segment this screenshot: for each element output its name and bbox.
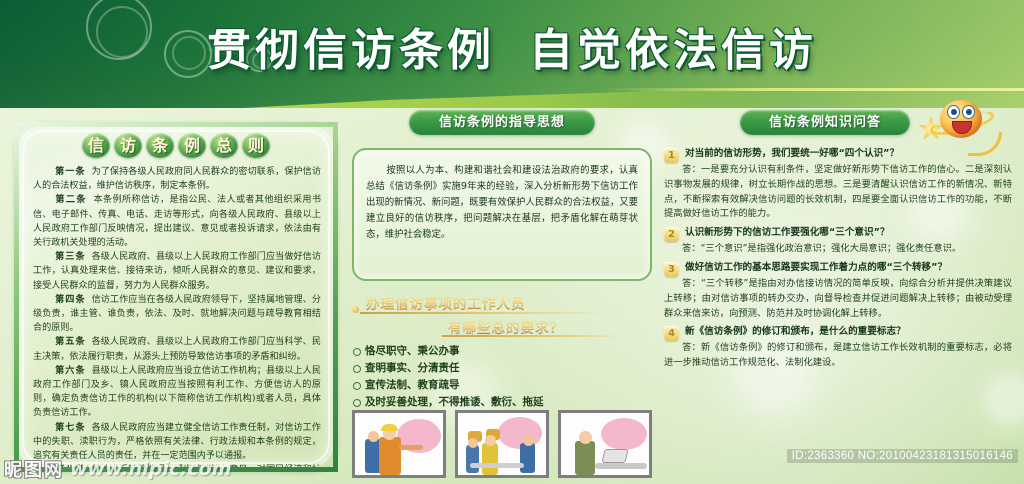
title-bubble-5: 总 [210, 133, 238, 158]
qa-question: 做好信访工作的基本思路要实现工作着力点的哪“三个转移”？ [685, 261, 1012, 275]
qa-answer: 答：一是要充分认识有利条件，坚定做好新形势下信访工作的信心。二是深刻认识事物发展… [664, 164, 1012, 219]
image-id-watermark: ID:2363360 NO:20100423181315016146 [787, 449, 1018, 463]
figure-hat [381, 424, 398, 431]
figure-desk [595, 463, 647, 469]
title-bubble-2: 访 [114, 133, 142, 158]
article-number: 第二条 [55, 195, 87, 205]
qa-item: 3 做好信访工作的基本思路要实现工作着力点的哪“三个转移”？ [664, 261, 1012, 275]
left-panel-body: 第一条 为了保持各级人民政府同人民群众的密切联系，保护信访人的合法权益，维护信访… [33, 165, 321, 461]
left-panel-title: 信访条例总则 [19, 133, 333, 158]
requirements-list: 恪尽职守、秉公办事 查明事实、分清责任 宣传法制、教育疏导 及时妥善处理，不得推… [352, 343, 652, 411]
speech-bubble [601, 418, 647, 450]
qa-number-badge: 3 [664, 262, 679, 277]
qa-item: 1 对当前的信访形势，我们要统一好哪“四个认识”？ [664, 147, 1012, 161]
figure-laptop [602, 449, 629, 463]
site-url-text: www.nipic.com [70, 458, 231, 480]
requirements-heading-line2: 有哪些总的要求？ [352, 317, 652, 337]
article-number: 第一条 [55, 167, 86, 177]
qa-item: 4 新《信访条例》的修订和颁布，是什么的重要标志？ [664, 325, 1012, 339]
mascot-pupil-left [951, 109, 957, 115]
list-item: 恪尽职守、秉公办事 [352, 343, 652, 360]
article-item: 第五条 各级人民政府、县级以上人民政府工作部门应当科学、民主决策，依法履行职责，… [33, 335, 321, 363]
title-bubble-6: 则 [242, 133, 270, 158]
poster-title: 贯彻信访条例自觉依法信访 [0, 14, 1024, 78]
qa-answer-wrap: 答：“三个转移”是指由对办信接访情况的简单反映，向综合分析并提供决策建议上转移；… [664, 277, 1012, 321]
qa-answer: 答：“三个转移”是指由对办信接访情况的简单反映，向综合分析并提供决策建议上转移；… [664, 278, 1012, 319]
article-item: 第六条 县级以上人民政府应当设立信访工作机构；县级以上人民政府工作部门及乡、镇人… [33, 364, 321, 421]
qa-number-badge: 1 [664, 148, 679, 163]
qa-answer-wrap: 答：一是要充分认识有利条件，坚定做好新形势下信访工作的信心。二是深刻认识事物发展… [664, 163, 1012, 222]
article-item: 第二条 本条例所称信访，是指公民、法人或者其他组织采用书信、电子邮件、传真、电话… [33, 193, 321, 250]
qa-number-badge: 2 [664, 227, 679, 242]
site-logo-text: 昵图网 [4, 456, 64, 482]
list-item: 宣传法制、教育疏导 [352, 377, 652, 394]
qa-question: 新《信访条例》的修订和颁布，是什么的重要标志？ [685, 325, 1012, 339]
figure-arm [399, 445, 423, 450]
qa-answer-wrap: 答：“三个意识”是指强化政治意识；强化大局意识；强化责任意识。 [664, 242, 1012, 257]
figure-head [579, 431, 592, 444]
article-item: 第一条 为了保持各级人民政府同人民群众的密切联系，保护信访人的合法权益，维护信访… [33, 165, 321, 193]
illustration-row [352, 410, 652, 478]
qa-list: 1 对当前的信访形势，我们要统一好哪“四个认识”？ 答：一是要充分认识有利条件，… [664, 147, 1012, 371]
guiding-thought-banner: 信访条例的指导思想 [409, 110, 595, 135]
title-bubble-4: 例 [178, 133, 206, 158]
article-number: 第七条 [55, 423, 86, 433]
article-number: 第三条 [55, 252, 86, 262]
middle-panel: 信访条例的指导思想 按照以人为本、构建和谐社会和建设法治政府的要求，认真总结《信… [352, 110, 652, 480]
title-bubble-3: 条 [146, 133, 174, 158]
requirements-underline-2 [442, 335, 622, 337]
qa-banner: 信访条例知识问答 [740, 110, 910, 135]
article-item: 第四条 信访工作应当在各级人民政府领导下，坚持属地管理、分级负责，谁主管、谁负责… [33, 293, 321, 336]
qa-question: 对当前的信访形势，我们要统一好哪“四个认识”？ [685, 147, 1012, 161]
requirements-heading-line1: 办理信访事项的工作人员 [352, 293, 652, 313]
figure-head [523, 435, 534, 446]
illustration-photo-3 [558, 410, 652, 478]
title-left: 贯彻信访条例 [207, 25, 495, 76]
guiding-thought-box: 按照以人为本、构建和谐社会和建设法治政府的要求，认真总结《信访条例》实施9年来的… [352, 148, 652, 281]
qa-number-badge: 4 [664, 326, 679, 341]
article-item: 第三条 各级人民政府、县级以上人民政府工作部门应当做好信访工作，认真处理来信、接… [33, 250, 321, 293]
qa-question: 认识新形势下的信访工作要强化哪“三个意识”？ [685, 226, 1012, 240]
figure-person [482, 443, 498, 475]
qa-answer: 答：新《信访条例》的修订和颁布，是建立信访工作长效机制的重要标志，必将进一步推动… [664, 342, 1012, 368]
requirements-heading: 办理信访事项的工作人员 有哪些总的要求？ [352, 293, 652, 339]
qa-item: 2 认识新形势下的信访工作要强化哪“三个意识”？ [664, 226, 1012, 240]
mascot-pupil-right [966, 109, 972, 115]
illustration-photo-1 [352, 410, 446, 478]
illustration-photo-2 [455, 410, 549, 478]
list-item: 查明事实、分清责任 [352, 360, 652, 377]
title-bubble-1: 信 [82, 133, 110, 158]
poster-root: 贯彻信访条例自觉依法信访 贯彻信访条例自觉依法信访 信访条例总则 第一条 为了保… [0, 0, 1024, 484]
left-panel: 信访条例总则 第一条 为了保持各级人民政府同人民群众的密切联系，保护信访人的合法… [14, 122, 338, 472]
article-number: 第六条 [55, 366, 86, 376]
figure-person [379, 437, 401, 475]
guiding-thought-text: 按照以人为本、构建和谐社会和建设法治政府的要求，认真总结《信访条例》实施9年来的… [366, 163, 638, 243]
figure-person [575, 441, 595, 475]
list-item: 及时妥善处理，不得推诿、敷衍、拖延 [352, 394, 652, 411]
figure-head [485, 435, 496, 446]
article-number: 第四条 [55, 295, 86, 305]
title-right: 自觉依法信访 [529, 25, 817, 76]
requirements-underline-1 [360, 312, 608, 314]
guiding-thought-paragraph: 按照以人为本、构建和谐社会和建设法治政府的要求，认真总结《信访条例》实施9年来的… [366, 165, 638, 240]
figure-person [520, 443, 535, 473]
qa-answer-wrap: 答：新《信访条例》的修订和颁布，是建立信访工作长效机制的重要标志，必将进一步推动… [664, 341, 1012, 371]
right-panel: 信访条例知识问答 1 对当前的信访形势，我们要统一好哪“四个认识”？ 答：一是要… [664, 110, 1012, 482]
figure-table [470, 463, 524, 468]
article-number: 第五条 [55, 337, 86, 347]
figure-person [466, 445, 479, 473]
qa-answer: 答：“三个意识”是指强化政治意识；强化大局意识；强化责任意识。 [682, 243, 961, 254]
figure-head [468, 438, 478, 448]
header-accent-rule [604, 88, 1024, 91]
site-watermark: 昵图网 www.nipic.com [4, 456, 231, 482]
figure-head [368, 431, 379, 442]
poster-header: 贯彻信访条例自觉依法信访 贯彻信访条例自觉依法信访 [0, 0, 1024, 108]
